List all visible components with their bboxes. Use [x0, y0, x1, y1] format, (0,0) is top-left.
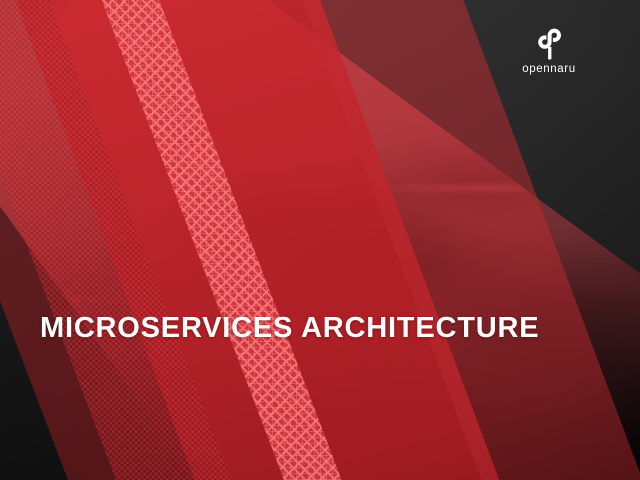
opennaru-infinity-mark-icon	[534, 28, 564, 60]
brand-logo: opennaru	[506, 28, 592, 76]
presentation-slide: opennaru MICROSERVICES ARCHITECTURE	[0, 0, 640, 480]
logo-wordmark: opennaru	[506, 64, 592, 76]
slide-title: MICROSERVICES ARCHITECTURE	[40, 312, 539, 345]
